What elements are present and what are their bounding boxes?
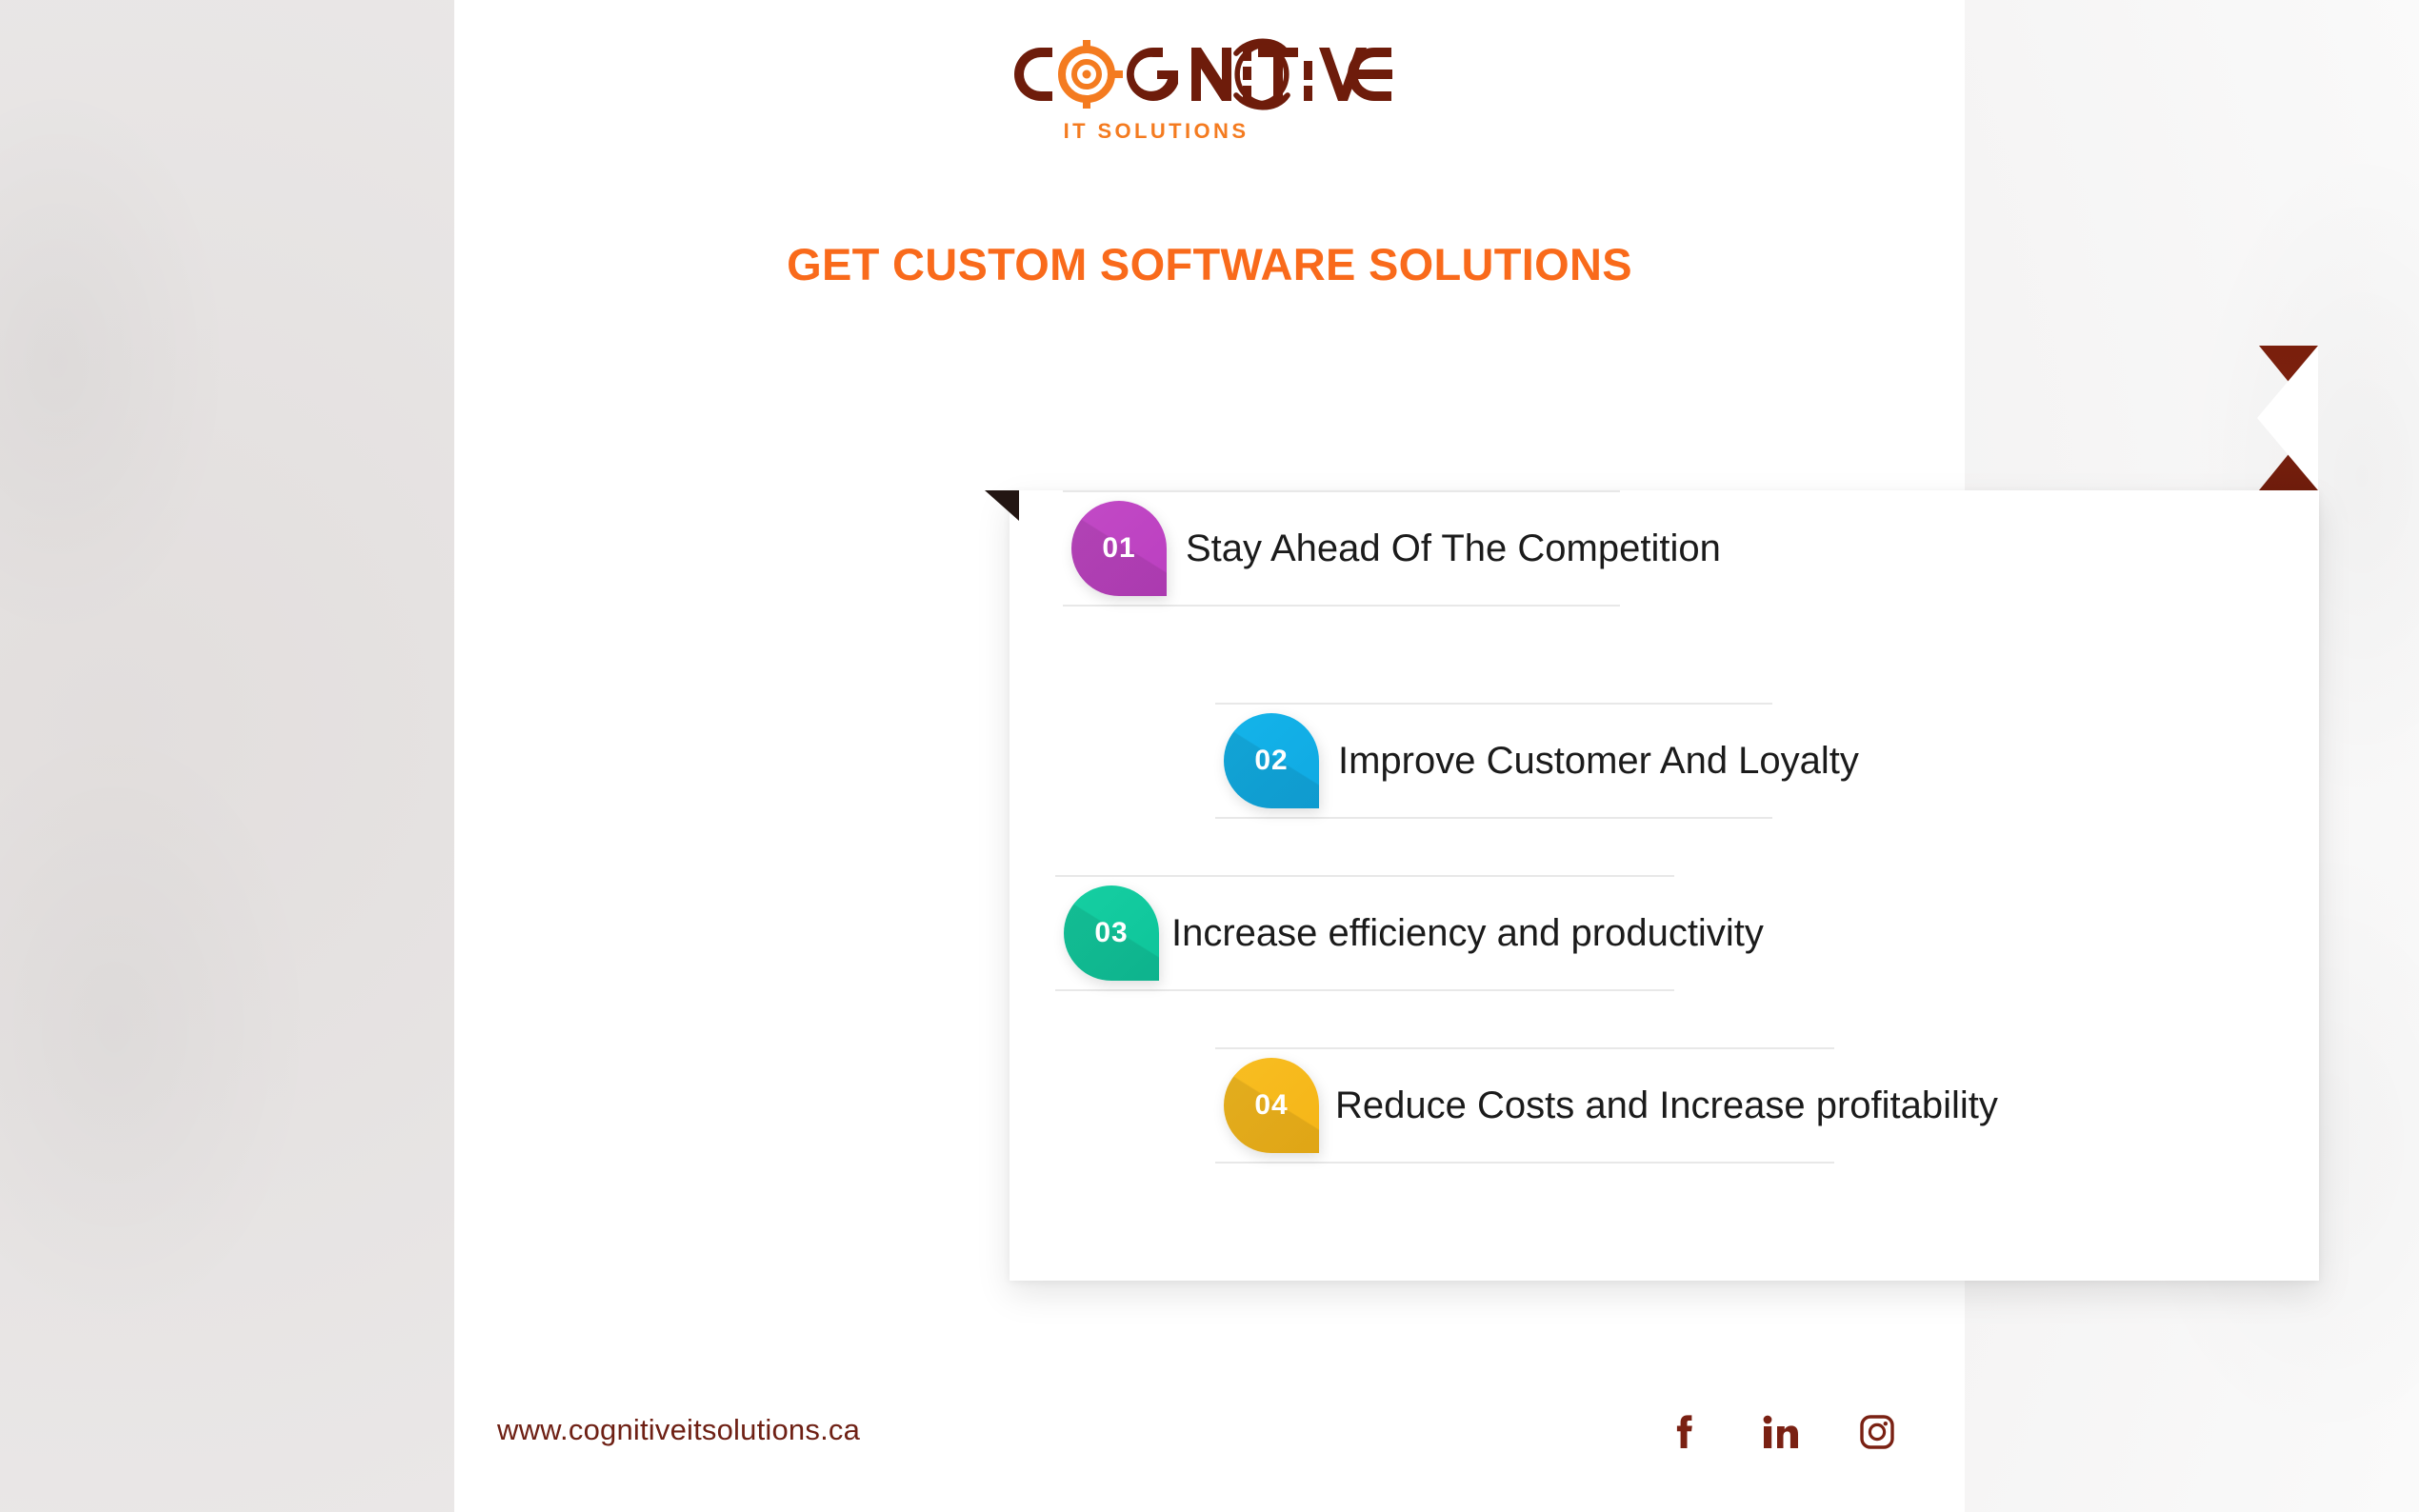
website-url[interactable]: www.cognitiveitsolutions.ca bbox=[497, 1413, 860, 1447]
cognitive-logo-icon bbox=[1005, 27, 1414, 117]
list-item-label: Increase efficiency and productivity bbox=[1171, 875, 1764, 991]
list-item-label: Improve Customer And Loyalty bbox=[1338, 703, 1859, 819]
list-item-label: Reduce Costs and Increase profitability bbox=[1335, 1047, 1998, 1164]
social-links bbox=[1662, 1411, 1898, 1453]
list-item-number: 02 bbox=[1254, 745, 1288, 777]
list-item-label: Stay Ahead Of The Competition bbox=[1186, 490, 1721, 607]
list-item-number: 03 bbox=[1094, 917, 1128, 949]
list-item-number-badge: 02 bbox=[1224, 713, 1319, 808]
list-item-number: 04 bbox=[1254, 1089, 1288, 1122]
linkedin-icon[interactable] bbox=[1759, 1411, 1801, 1453]
facebook-icon[interactable] bbox=[1662, 1411, 1704, 1453]
benefits-list: 01Stay Ahead Of The Competition02Improve… bbox=[1010, 490, 2319, 1281]
list-item[interactable]: 02Improve Customer And Loyalty bbox=[1010, 703, 2319, 819]
page-canvas: IT SOLUTIONS GET CUSTOM SOFTWARE SOLUTIO… bbox=[0, 0, 2419, 1512]
you-can-ribbon: YOU CAN bbox=[985, 346, 2318, 490]
benefits-card: 01Stay Ahead Of The Competition02Improve… bbox=[1010, 490, 2319, 1281]
brand-tagline: IT SOLUTIONS bbox=[1064, 119, 1249, 144]
ribbon-label: YOU CAN bbox=[1075, 346, 1263, 490]
list-item-number-badge: 03 bbox=[1064, 885, 1159, 981]
list-item[interactable]: 01Stay Ahead Of The Competition bbox=[1010, 490, 2319, 607]
list-item-number-badge: 01 bbox=[1071, 501, 1167, 596]
instagram-icon[interactable] bbox=[1856, 1411, 1898, 1453]
brand-logo[interactable]: IT SOLUTIONS bbox=[454, 27, 1965, 144]
list-item[interactable]: 04Reduce Costs and Increase profitabilit… bbox=[1010, 1047, 2319, 1164]
slide-panel: IT SOLUTIONS GET CUSTOM SOFTWARE SOLUTIO… bbox=[454, 0, 1965, 1512]
list-item[interactable]: 03Increase efficiency and productivity bbox=[1010, 875, 2319, 991]
list-item-number: 01 bbox=[1102, 532, 1135, 565]
page-title: GET CUSTOM SOFTWARE SOLUTIONS bbox=[454, 238, 1965, 290]
list-item-number-badge: 04 bbox=[1224, 1058, 1319, 1153]
